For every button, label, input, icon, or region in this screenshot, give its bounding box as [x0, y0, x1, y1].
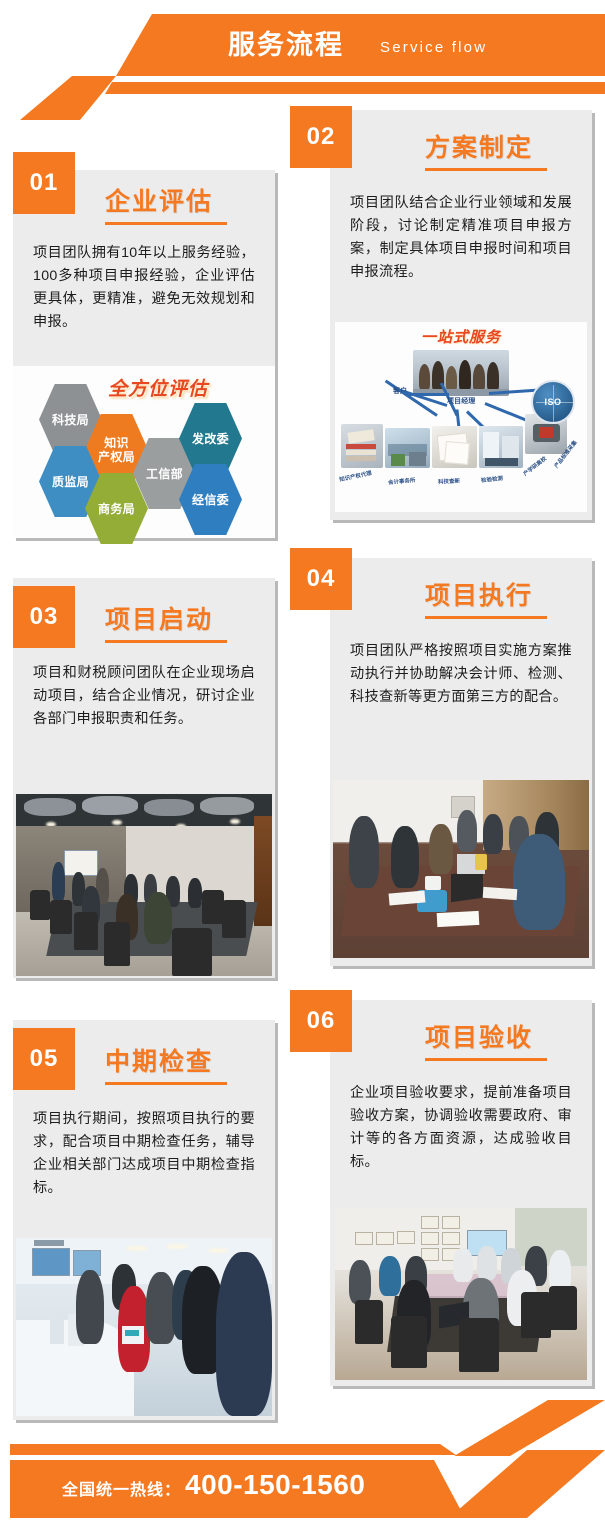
oss-iso-badge-icon: ISO: [531, 380, 575, 424]
card-01-body: 项目团队拥有10年以上服务经验，100多种项目申报经验，企业评估更具体，更精准，…: [33, 242, 255, 334]
oss-service-label-0: 知识产权代理: [339, 469, 373, 484]
oss-service-label-2: 科技查新: [438, 476, 460, 485]
oss-arrow-client: [407, 393, 449, 396]
card-03-title: 项目启动: [105, 600, 213, 636]
card-02-title: 方案制定: [425, 128, 533, 164]
card-06-title-rule: [425, 1058, 547, 1061]
photo-meeting-room: [16, 794, 272, 976]
card-06-body: 企业项目验收要求，提前准备项目验收方案，协调验收需要政府、审计等的各方面资源，达…: [350, 1082, 572, 1174]
hex-diagram: 全方位评估 科技局 知识 产权局 质监局 商务局 工信部 发改委 经信委: [13, 366, 275, 538]
one-stop-service-diagram: 一站式服务 客户 项目经理: [335, 322, 587, 512]
photo-conference-room: [335, 1208, 587, 1380]
hex-diagram-title: 全方位评估: [108, 374, 208, 401]
one-stop-service-title: 一站式服务: [421, 326, 501, 347]
page-subtitle: Service flow: [380, 38, 487, 58]
oss-label-manager: 项目经理: [447, 396, 475, 406]
card-03-number-badge: 03: [13, 586, 75, 648]
card-02-title-rule: [425, 168, 547, 171]
card-04-title-rule: [425, 616, 547, 619]
card-01-number-badge: 01: [13, 152, 75, 214]
card-03-title-rule: [105, 640, 227, 643]
card-06-title: 项目验收: [425, 1018, 533, 1054]
photo-lobby-group: [16, 1238, 272, 1416]
hotline-number[interactable]: 400-150-1560: [185, 1469, 365, 1501]
card-05-title-rule: [105, 1082, 227, 1085]
footer-wedge-upper: [430, 1400, 605, 1456]
card-01-title: 企业评估: [105, 182, 213, 218]
card-06: 项目验收 企业项目验收要求，提前准备项目验收方案，协调验收需要政府、审计等的各方…: [330, 1000, 592, 1386]
oss-service-label-1: 会计事务所: [388, 476, 416, 486]
oss-service-label-4: 产学研高校: [521, 454, 548, 477]
card-04-number-badge: 04: [290, 548, 352, 610]
card-03-body: 项目和财税顾问团队在企业现场启动项目，结合企业情况，研讨企业各部门申报职责和任务…: [33, 662, 255, 731]
card-02: 方案制定 项目团队结合企业行业领域和发展阶段，讨论制定精准项目申报方案，制定具体…: [330, 110, 592, 520]
oss-label-client: 客户: [393, 386, 407, 396]
oss-node-inspection: [479, 426, 523, 468]
page-footer: 全国统一热线： 400-150-1560: [0, 1400, 605, 1538]
card-01: 企业评估 项目团队拥有10年以上服务经验，100多种项目申报经验，企业评估更具体…: [13, 170, 275, 538]
oss-node-accounting: [385, 428, 430, 468]
page-header: 服务流程 Service flow: [0, 0, 605, 120]
card-05-number-badge: 05: [13, 1028, 75, 1090]
card-05-title: 中期检查: [105, 1042, 213, 1078]
card-02-body: 项目团队结合企业行业领域和发展阶段，讨论制定精准项目申报方案，制定具体项目申报时…: [350, 192, 572, 284]
oss-center-photo: [413, 350, 509, 396]
card-02-number-badge: 02: [290, 106, 352, 168]
hotline-label: 全国统一热线：: [62, 1476, 181, 1500]
page-title: 服务流程: [228, 27, 344, 63]
oss-node-tech-search: [432, 426, 477, 468]
oss-service-label-3: 检验检测: [481, 474, 504, 484]
card-01-title-rule: [105, 222, 227, 225]
card-06-number-badge: 06: [290, 990, 352, 1052]
oss-node-ip: [341, 424, 383, 468]
card-04-body: 项目团队严格按照项目实施方案推动执行并协助解决会计师、检测、科技查新等更方面第三…: [350, 640, 572, 709]
card-04-title: 项目执行: [425, 576, 533, 612]
photo-working-session: [333, 780, 589, 958]
card-05-body: 项目执行期间，按照项目执行的要求，配合项目中期检查任务，辅导企业相关部门达成项目…: [33, 1108, 255, 1200]
card-04: 项目执行 项目团队严格按照项目实施方案推动执行并协助解决会计师、检测、科技查新等…: [330, 558, 592, 966]
